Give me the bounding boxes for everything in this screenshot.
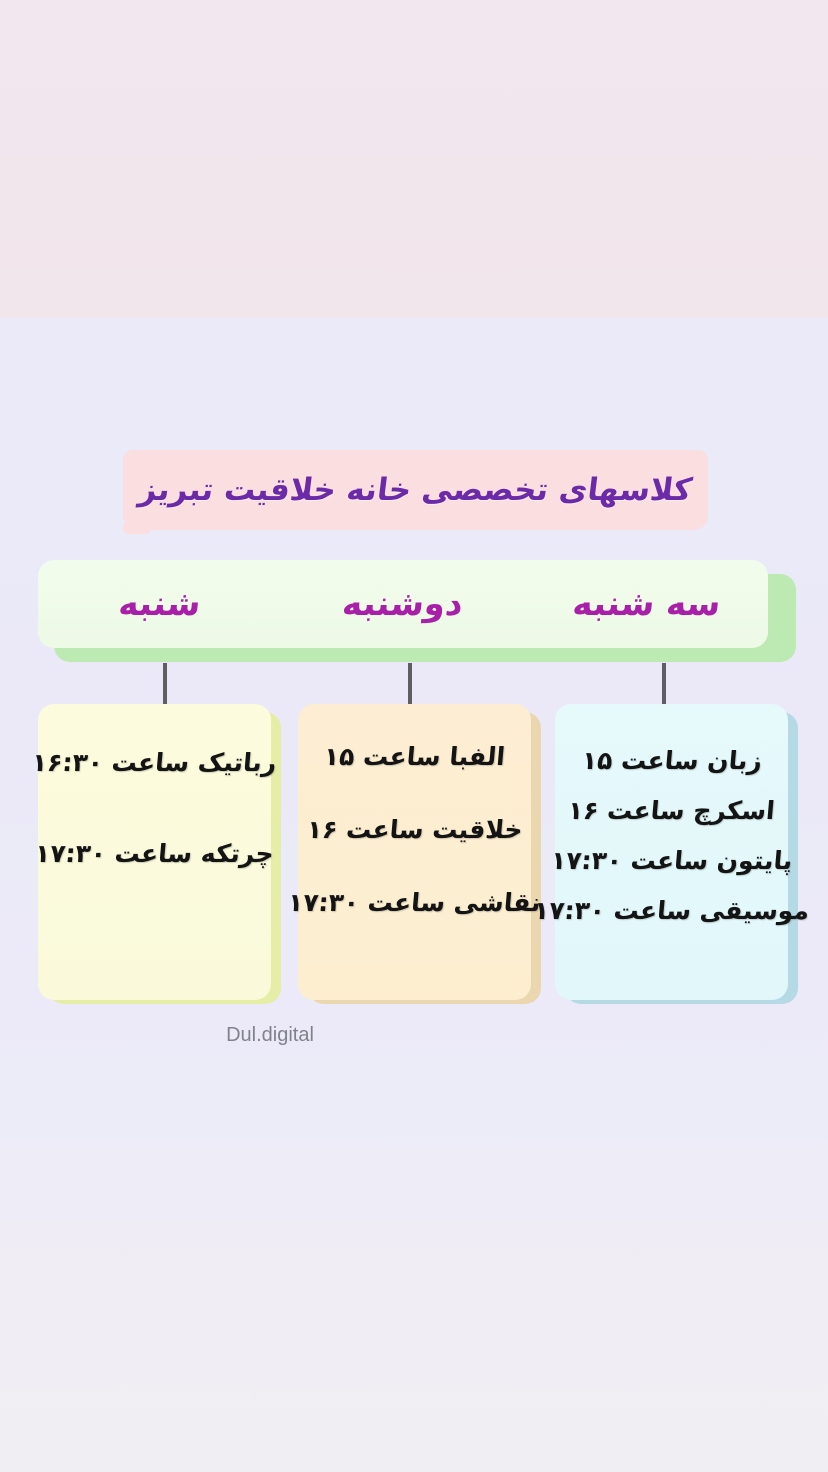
- class-entry: زبان ساعت ۱۵: [580, 746, 763, 775]
- class-entry: خلاقیت ساعت ۱۶: [305, 815, 523, 844]
- background-band-bottom: [0, 1118, 828, 1472]
- card-body: زبان ساعت ۱۵ اسکرچ ساعت ۱۶ پایتون ساعت ۱…: [555, 704, 788, 1000]
- schedule-card-tuesday[interactable]: رباتیک ساعت ۱۶:۳۰ چرتکه ساعت ۱۷:۳۰: [38, 704, 281, 1004]
- background-band-top: [0, 0, 828, 318]
- class-entry: پایتون ساعت ۱۷:۳۰: [550, 846, 794, 875]
- schedule-card-saturday[interactable]: زبان ساعت ۱۵ اسکرچ ساعت ۱۶ پایتون ساعت ۱…: [555, 704, 798, 1004]
- class-entry: چرتکه ساعت ۱۷:۳۰: [34, 839, 275, 868]
- day-header-monday[interactable]: دوشنبه: [279, 584, 527, 624]
- class-entry: نقاشی ساعت ۱۷:۳۰: [287, 888, 542, 917]
- days-header: سه شنبه دوشنبه شنبه: [38, 560, 796, 665]
- title-banner: کلاسهای تخصصی خانه خلاقیت تبریز: [123, 450, 708, 530]
- class-entry: الفبا ساعت ۱۵: [323, 742, 507, 771]
- class-entry: رباتیک ساعت ۱۶:۳۰: [31, 748, 278, 777]
- page-title: کلاسهای تخصصی خانه خلاقیت تبریز: [137, 472, 694, 508]
- class-entry: اسکرچ ساعت ۱۶: [567, 796, 776, 825]
- schedule-card-monday[interactable]: الفبا ساعت ۱۵ خلاقیت ساعت ۱۶ نقاشی ساعت …: [298, 704, 541, 1004]
- class-entry: موسیقی ساعت ۱۷:۳۰: [533, 896, 811, 925]
- days-header-bar: سه شنبه دوشنبه شنبه: [38, 560, 768, 648]
- day-header-tuesday[interactable]: سه شنبه: [523, 584, 771, 624]
- watermark: Dul.digital: [0, 1024, 540, 1047]
- day-header-saturday[interactable]: شنبه: [36, 584, 284, 624]
- card-body: الفبا ساعت ۱۵ خلاقیت ساعت ۱۶ نقاشی ساعت …: [298, 704, 531, 1000]
- card-body: رباتیک ساعت ۱۶:۳۰ چرتکه ساعت ۱۷:۳۰: [38, 704, 271, 1000]
- poster-canvas: کلاسهای تخصصی خانه خلاقیت تبریز سه شنبه …: [0, 0, 828, 1472]
